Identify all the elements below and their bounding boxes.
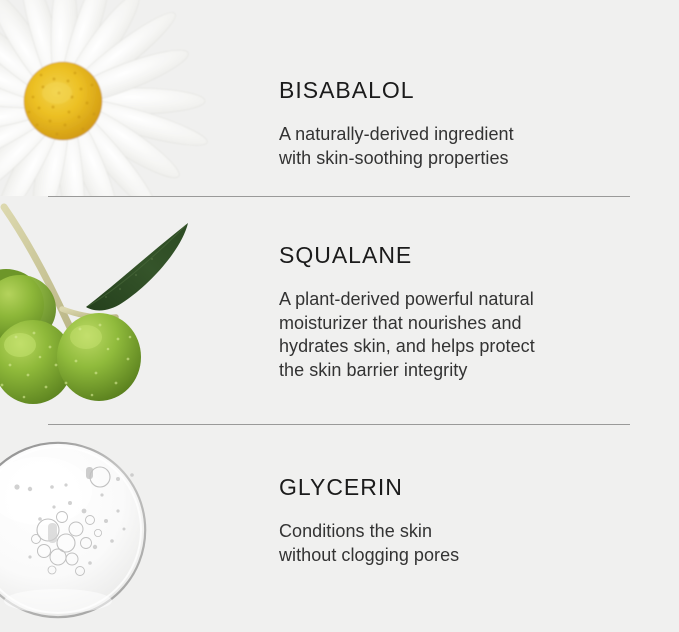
green-olives-image	[0, 197, 220, 424]
ingredient-row-squalane: SQUALANE A plant-derived powerful natura…	[0, 197, 679, 424]
description-line: the skin barrier integrity	[279, 360, 467, 380]
ingredient-description: A plant-derived powerful natural moistur…	[279, 288, 649, 382]
description-line: A naturally-derived ingredient	[279, 124, 514, 144]
ingredient-title: SQUALANE	[279, 243, 649, 268]
glycerin-droplet-image	[0, 425, 220, 632]
ingredient-row-glycerin: GLYCERIN Conditions the skin without clo…	[0, 425, 679, 632]
description-line: hydrates skin, and helps protect	[279, 336, 535, 356]
description-line: without clogging pores	[279, 545, 459, 565]
description-line: with skin-soothing properties	[279, 148, 509, 168]
ingredient-copy-bisabalol: BISABALOL A naturally-derived ingredient…	[279, 78, 649, 170]
ingredient-description: Conditions the skin without clogging por…	[279, 520, 649, 567]
description-line: moisturizer that nourishes and	[279, 313, 522, 333]
daisy-flower-image	[0, 0, 220, 196]
ingredient-title: GLYCERIN	[279, 475, 649, 500]
ingredient-copy-squalane: SQUALANE A plant-derived powerful natura…	[279, 243, 649, 382]
ingredient-description: A naturally-derived ingredient with skin…	[279, 123, 649, 170]
ingredient-copy-glycerin: GLYCERIN Conditions the skin without clo…	[279, 475, 649, 567]
description-line: Conditions the skin	[279, 521, 432, 541]
ingredient-row-bisabalol: BISABALOL A naturally-derived ingredient…	[0, 0, 679, 196]
description-line: A plant-derived powerful natural	[279, 289, 534, 309]
ingredient-panel: BISABALOL A naturally-derived ingredient…	[0, 0, 679, 632]
ingredient-title: BISABALOL	[279, 78, 649, 103]
